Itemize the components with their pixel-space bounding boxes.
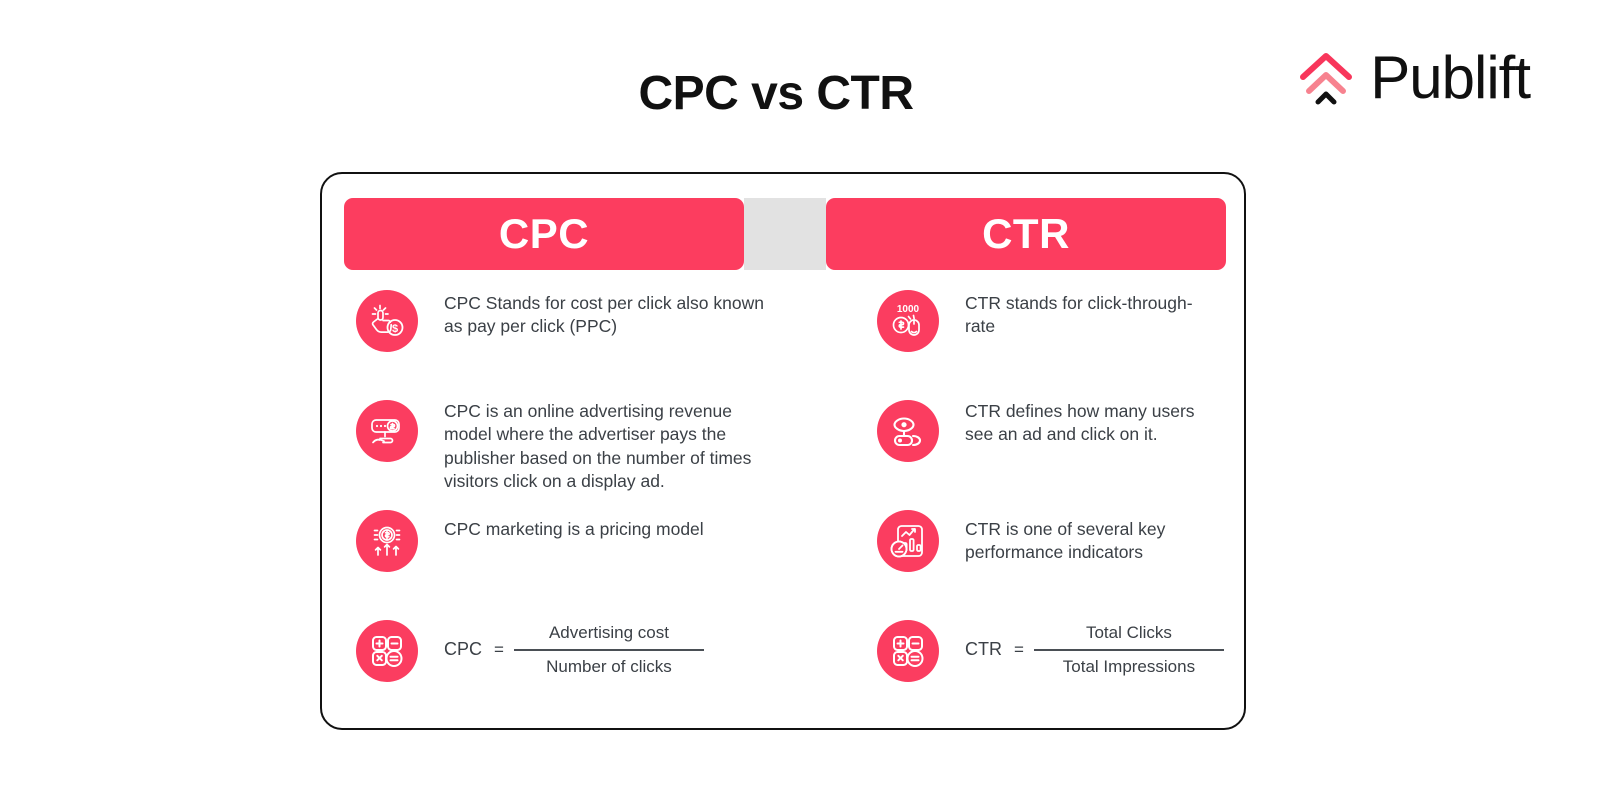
cpc-formula-numerator: Advertising cost [543, 622, 675, 644]
header-divider-gap [744, 198, 826, 270]
ctr-row-3-text: CTR is one of several key performance in… [965, 504, 1216, 565]
svg-text:$: $ [392, 323, 398, 335]
cpc-row-3-text: CPC marketing is a pricing model [444, 504, 704, 541]
ctr-formula-fraction: Total Clicks Total Impressions [1034, 622, 1224, 678]
column-header-ctr: CTR [826, 198, 1226, 270]
cpc-row-1: $ CPC Stands for cost per click also kno… [356, 284, 769, 394]
calculator-icon [356, 620, 418, 682]
click-hand-dollar-icon: $ [356, 290, 418, 352]
impression-count-label: 1000 [897, 304, 920, 315]
ctr-row-1: 1000 CTR stands for click-through-rate [877, 284, 1216, 394]
ctr-formula-denominator: Total Impressions [1057, 656, 1201, 678]
cpc-formula: CPC = Advertising cost Number of clicks [444, 614, 704, 678]
column-cpc: $ CPC Stands for cost per click also kno… [344, 284, 785, 709]
calculator-icon [877, 620, 939, 682]
column-header-cpc-label: CPC [499, 210, 589, 258]
comparison-header-row: CPC CTR [344, 198, 1226, 270]
comparison-card: CPC CTR $ [320, 172, 1246, 730]
ctr-row-2-text: CTR defines how many users see an ad and… [965, 394, 1216, 447]
ctr-formula: CTR = Total Clicks Total Impressions [965, 614, 1224, 678]
column-header-ctr-label: CTR [982, 210, 1070, 258]
ctr-formula-label: CTR [965, 639, 1002, 660]
cpc-formula-denominator: Number of clicks [540, 656, 678, 678]
ctr-formula-equals: = [1014, 640, 1024, 660]
cpc-row-2-text: CPC is an online advertising revenue mod… [444, 394, 769, 493]
eye-click-icon [877, 400, 939, 462]
cpc-formula-fraction: Advertising cost Number of clicks [514, 622, 704, 678]
cpc-formula-row: CPC = Advertising cost Number of clicks [356, 614, 769, 709]
chevron-stack-icon [1298, 50, 1354, 106]
cpc-row-2: CPC is an online advertising revenue mod… [356, 394, 769, 504]
report-chart-gauge-icon [877, 510, 939, 572]
brand-name: Publift [1370, 48, 1530, 108]
ctr-formula-row: CTR = Total Clicks Total Impressions [877, 614, 1216, 709]
ad-banner-payment-hand-icon [356, 400, 418, 462]
column-header-cpc: CPC [344, 198, 744, 270]
cpc-formula-equals: = [494, 640, 504, 660]
cpc-fraction-bar [514, 649, 704, 651]
impressions-mouse-dollar-icon: 1000 [877, 290, 939, 352]
ctr-row-3: CTR is one of several key performance in… [877, 504, 1216, 614]
ctr-formula-numerator: Total Clicks [1080, 622, 1178, 644]
cpc-row-3: CPC marketing is a pricing model [356, 504, 769, 614]
cpc-formula-label: CPC [444, 639, 482, 660]
cpc-row-1-text: CPC Stands for cost per click also known… [444, 284, 769, 339]
ctr-row-1-text: CTR stands for click-through-rate [965, 284, 1216, 339]
column-ctr: 1000 CTR stands for click-through-rate [785, 284, 1226, 709]
ctr-row-2: CTR defines how many users see an ad and… [877, 394, 1216, 504]
brand-logo: Publift [1298, 48, 1530, 108]
ctr-fraction-bar [1034, 649, 1224, 651]
dollar-coin-growth-arrows-icon [356, 510, 418, 572]
comparison-body: $ CPC Stands for cost per click also kno… [344, 284, 1226, 709]
